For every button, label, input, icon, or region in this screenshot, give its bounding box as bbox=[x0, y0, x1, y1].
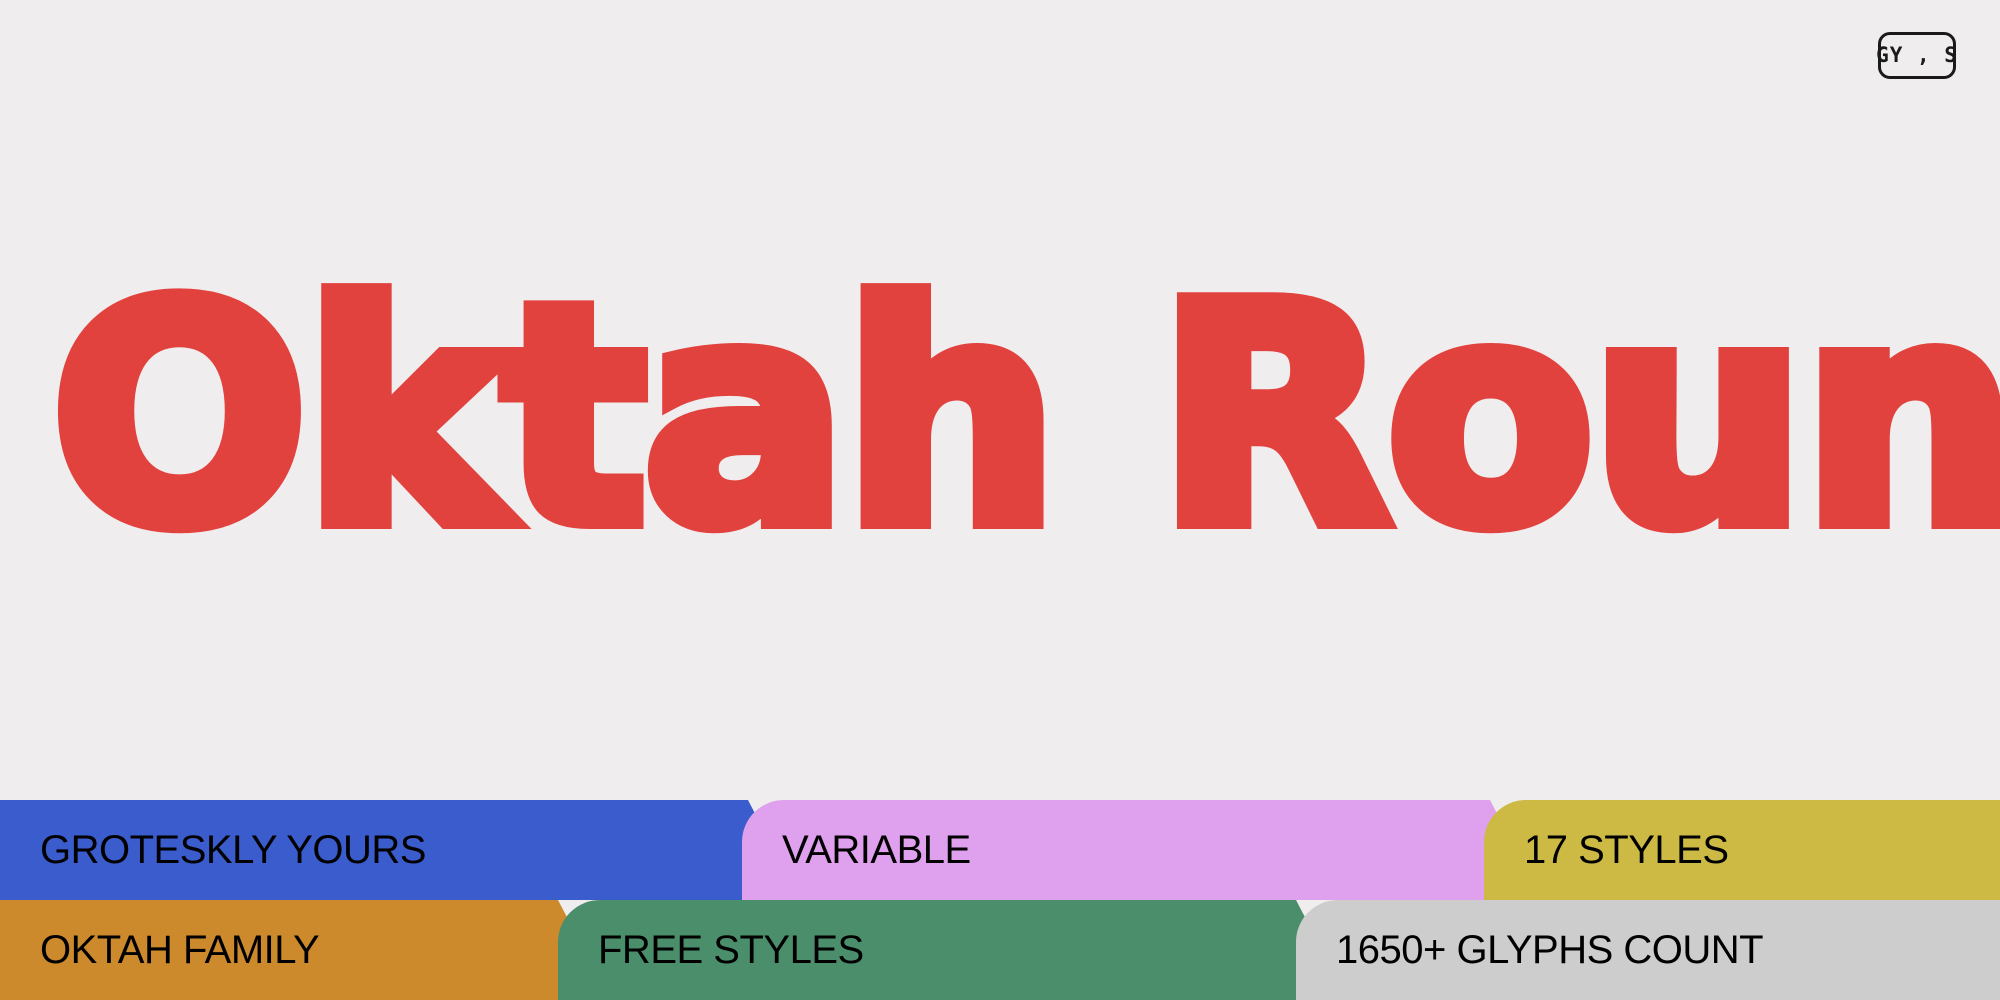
tag-row2-0[interactable]: OKTAH FAMILY bbox=[0, 900, 610, 1000]
tag-label: OKTAH FAMILY bbox=[0, 930, 319, 970]
tag-row1-2[interactable]: 17 STYLES bbox=[1484, 800, 2000, 900]
foundry-badge[interactable]: GY , S bbox=[1878, 32, 1956, 79]
specimen-title-text: Oktah Round bbox=[52, 274, 2000, 559]
tag-label: VARIABLE bbox=[742, 830, 971, 870]
tag-label: GROTESKLY YOURS bbox=[0, 830, 426, 870]
specimen-title: Oktah Round bbox=[52, 236, 1952, 596]
tag-label: 17 STYLES bbox=[1484, 830, 1729, 870]
tag-rows: GROTESKLY YOURSVARIABLE17 STYLES OKTAH F… bbox=[0, 800, 2000, 1000]
tag-row-2: OKTAH FAMILYFREE STYLES1650+ GLYPHS COUN… bbox=[0, 900, 2000, 1000]
tag-row2-1[interactable]: FREE STYLES bbox=[558, 900, 1348, 1000]
tag-row-1: GROTESKLY YOURSVARIABLE17 STYLES bbox=[0, 800, 2000, 900]
tag-label: FREE STYLES bbox=[558, 930, 864, 970]
tag-row1-1[interactable]: VARIABLE bbox=[742, 800, 1542, 900]
foundry-badge-label: GY , S bbox=[1876, 45, 1958, 66]
tag-label: 1650+ GLYPHS COUNT bbox=[1296, 930, 1763, 970]
tag-row1-0[interactable]: GROTESKLY YOURS bbox=[0, 800, 800, 900]
tag-row2-2[interactable]: 1650+ GLYPHS COUNT bbox=[1296, 900, 2000, 1000]
